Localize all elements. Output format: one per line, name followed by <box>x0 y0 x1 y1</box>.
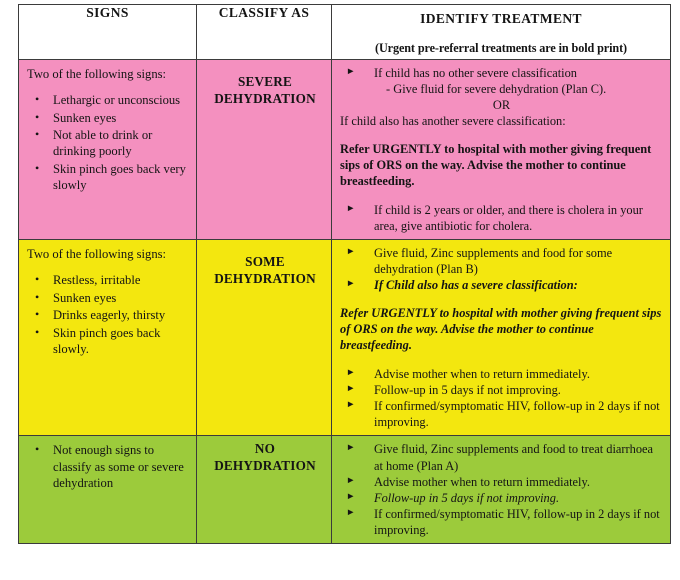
list-item: •Skin pinch goes back very slowly <box>27 161 190 194</box>
sign-text: Skin pinch goes back very slowly <box>53 162 186 192</box>
triangle-right-icon: ► <box>346 203 355 217</box>
treatment-list-severe-secondary: ► If child is 2 years or older, and ther… <box>338 202 665 234</box>
list-item: ► Give fluid, Zinc supplements and food … <box>338 441 665 473</box>
column-header-signs-label: SIGNS <box>19 5 196 21</box>
column-header-treatment-label: IDENTIFY TREATMENT <box>336 11 666 27</box>
bullet-dot-icon: • <box>35 306 39 322</box>
classify-cell-none: NO DEHYDRATION <box>197 436 332 544</box>
spacer <box>338 353 665 366</box>
treatment-or-divider: OR <box>338 97 665 113</box>
sign-text: Restless, irritable <box>53 273 140 287</box>
bullet-dot-icon: • <box>35 91 39 107</box>
sign-text: Sunken eyes <box>53 111 116 125</box>
bullet-dot-icon: • <box>35 126 39 142</box>
column-header-treatment: IDENTIFY TREATMENT (Urgent pre-referral … <box>332 5 671 60</box>
signs-lead-some: Two of the following signs: <box>27 246 190 262</box>
list-item: •Lethargic or unconscious <box>27 92 190 108</box>
treatment-text: If confirmed/symptomatic HIV, follow-up … <box>374 399 660 429</box>
triangle-right-icon: ► <box>346 367 355 381</box>
treatment-text: If Child also has a severe classificatio… <box>374 278 578 292</box>
list-item: ► If confirmed/symptomatic HIV, follow-u… <box>338 506 665 538</box>
treatment-urgent-referral: Refer URGENTLY to hospital with mother g… <box>338 141 665 189</box>
triangle-right-icon: ► <box>346 383 355 397</box>
treatment-content-severe: ► If child has no other severe classific… <box>332 60 670 239</box>
triangle-right-icon: ► <box>346 278 355 292</box>
table-row-some-dehydration: Two of the following signs: •Restless, i… <box>19 240 671 436</box>
signs-list-some: •Restless, irritable •Sunken eyes •Drink… <box>27 272 190 357</box>
treatment-text: Give fluid for severe dehydration (Plan … <box>393 82 606 96</box>
classification-line-2: DEHYDRATION <box>205 458 325 475</box>
bullet-dot-icon: • <box>35 109 39 125</box>
triangle-right-icon: ► <box>346 399 355 413</box>
treatment-text: Advise mother when to return immediately… <box>374 367 590 381</box>
triangle-right-icon: ► <box>346 442 355 456</box>
table-body: Two of the following signs: •Lethargic o… <box>19 60 671 544</box>
treatment-subitem: - Give fluid for severe dehydration (Pla… <box>374 81 665 97</box>
list-item: ► Give fluid, Zinc supplements and food … <box>338 245 665 277</box>
treatment-list-none: ► Give fluid, Zinc supplements and food … <box>338 441 665 538</box>
classification-line-1: SEVERE <box>205 74 325 91</box>
table-row-no-dehydration: •Not enough signs to classify as some or… <box>19 436 671 544</box>
list-item: ► Follow-up in 5 days if not improving. <box>338 490 665 506</box>
document-page: SIGNS CLASSIFY AS IDENTIFY TREATMENT (Ur… <box>0 0 680 580</box>
signs-cell-none: •Not enough signs to classify as some or… <box>19 436 197 544</box>
treatment-list-severe: ► If child has no other severe classific… <box>338 65 665 97</box>
bullet-dot-icon: • <box>35 289 39 305</box>
treatment-cell-some: ► Give fluid, Zinc supplements and food … <box>332 240 671 436</box>
list-item: ► If child is 2 years or older, and ther… <box>338 202 665 234</box>
classification-label-none: NO DEHYDRATION <box>197 436 331 481</box>
header-row: SIGNS CLASSIFY AS IDENTIFY TREATMENT (Ur… <box>19 5 671 60</box>
classification-label-some: SOME DEHYDRATION <box>197 240 331 294</box>
bullet-dot-icon: • <box>35 441 39 457</box>
treatment-content-some: ► Give fluid, Zinc supplements and food … <box>332 240 670 435</box>
list-item: •Sunken eyes <box>27 290 190 306</box>
classification-label-severe: SEVERE DEHYDRATION <box>197 60 331 114</box>
sign-text: Sunken eyes <box>53 291 116 305</box>
sign-text: Not enough signs to classify as some or … <box>53 443 184 490</box>
column-header-treatment-note: (Urgent pre-referral treatments are in b… <box>336 41 666 56</box>
treatment-list-some: ► Give fluid, Zinc supplements and food … <box>338 245 665 293</box>
list-item: •Not able to drink or drinking poorly <box>27 127 190 160</box>
signs-content-severe: Two of the following signs: •Lethargic o… <box>19 60 196 201</box>
treatment-content-none: ► Give fluid, Zinc supplements and food … <box>332 436 670 543</box>
column-header-classify-label: CLASSIFY AS <box>197 5 331 21</box>
signs-lead-severe: Two of the following signs: <box>27 66 190 82</box>
triangle-right-icon: ► <box>346 507 355 521</box>
list-item: •Drinks eagerly, thirsty <box>27 307 190 323</box>
triangle-right-icon: ► <box>346 491 355 505</box>
sign-text: Lethargic or unconscious <box>53 93 180 107</box>
treatment-text: Give fluid, Zinc supplements and food to… <box>374 442 653 472</box>
sign-text: Drinks eagerly, thirsty <box>53 308 165 322</box>
list-item: •Restless, irritable <box>27 272 190 288</box>
spacer <box>338 189 665 202</box>
bullet-dot-icon: • <box>35 160 39 176</box>
classify-cell-severe: SEVERE DEHYDRATION <box>197 60 332 240</box>
dash-marker: - <box>386 82 390 96</box>
classification-line-2: DEHYDRATION <box>205 271 325 288</box>
treatment-text: If child is 2 years or older, and there … <box>374 203 643 233</box>
signs-list-severe: •Lethargic or unconscious •Sunken eyes •… <box>27 92 190 193</box>
column-header-signs: SIGNS <box>19 5 197 60</box>
table-row-severe-dehydration: Two of the following signs: •Lethargic o… <box>19 60 671 240</box>
sign-text: Not able to drink or drinking poorly <box>53 128 152 158</box>
dehydration-classification-table: SIGNS CLASSIFY AS IDENTIFY TREATMENT (Ur… <box>18 4 671 544</box>
treatment-text: Follow-up in 5 days if not improving. <box>374 491 559 505</box>
list-item: ► Advise mother when to return immediate… <box>338 474 665 490</box>
triangle-right-icon: ► <box>346 475 355 489</box>
list-item: •Skin pinch goes back slowly. <box>27 325 190 358</box>
classify-cell-some: SOME DEHYDRATION <box>197 240 332 436</box>
triangle-right-icon: ► <box>346 66 355 80</box>
signs-cell-severe: Two of the following signs: •Lethargic o… <box>19 60 197 240</box>
table-header: SIGNS CLASSIFY AS IDENTIFY TREATMENT (Ur… <box>19 5 671 60</box>
classification-line-2: DEHYDRATION <box>205 91 325 108</box>
signs-content-some: Two of the following signs: •Restless, i… <box>19 240 196 364</box>
signs-list-none: •Not enough signs to classify as some or… <box>27 442 190 491</box>
list-item: ► Follow-up in 5 days if not improving. <box>338 382 665 398</box>
treatment-cell-none: ► Give fluid, Zinc supplements and food … <box>332 436 671 544</box>
list-item: ► If Child also has a severe classificat… <box>338 277 665 293</box>
signs-cell-some: Two of the following signs: •Restless, i… <box>19 240 197 436</box>
treatment-cell-severe: ► If child has no other severe classific… <box>332 60 671 240</box>
triangle-right-icon: ► <box>346 246 355 260</box>
classification-line-1: NO <box>205 441 325 458</box>
bullet-dot-icon: • <box>35 324 39 340</box>
classification-line-1: SOME <box>205 254 325 271</box>
list-item: ► If child has no other severe classific… <box>338 65 665 97</box>
list-item: ► Advise mother when to return immediate… <box>338 366 665 382</box>
treatment-text: Advise mother when to return immediately… <box>374 475 590 489</box>
treatment-text: If confirmed/symptomatic HIV, follow-up … <box>374 507 660 537</box>
treatment-list-some-followup: ► Advise mother when to return immediate… <box>338 366 665 431</box>
treatment-text: Follow-up in 5 days if not improving. <box>374 383 561 397</box>
sign-text: Skin pinch goes back slowly. <box>53 326 160 356</box>
list-item: ► If confirmed/symptomatic HIV, follow-u… <box>338 398 665 430</box>
list-item: •Sunken eyes <box>27 110 190 126</box>
treatment-text: Give fluid, Zinc supplements and food fo… <box>374 246 612 276</box>
column-header-classify: CLASSIFY AS <box>197 5 332 60</box>
bullet-dot-icon: • <box>35 271 39 287</box>
signs-content-none: •Not enough signs to classify as some or… <box>19 436 196 498</box>
treatment-text: If child has no other severe classificat… <box>374 66 577 80</box>
list-item: •Not enough signs to classify as some or… <box>27 442 190 491</box>
treatment-conditional-line: If child also has another severe classif… <box>338 113 665 129</box>
treatment-urgent-referral: Refer URGENTLY to hospital with mother g… <box>338 305 665 353</box>
